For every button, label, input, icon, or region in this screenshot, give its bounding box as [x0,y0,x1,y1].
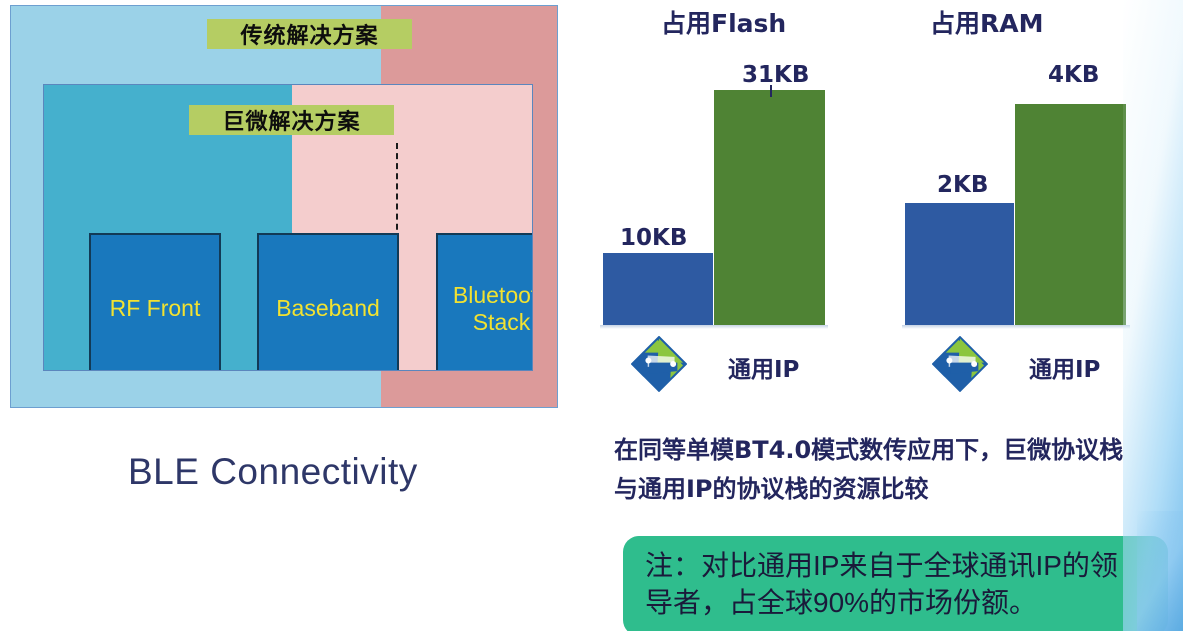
category-label-ram-generic-ip: 通用IP [1029,350,1100,384]
block-rf-front: RF Front [89,233,221,371]
chart-title-ram: 占用RAM [930,4,1043,40]
value-label-flash-generic-ip: 31KB [742,62,809,88]
legacy-solution-tag: 传统解决方案 [207,19,412,49]
value-label-flash-juwei: 10KB [620,225,687,251]
comparison-caption-line1: 在同等单模BT4.0模式数传应用下，巨微协议栈 [614,431,1174,470]
juwei-solution-box: 巨微解决方案 RF Front Baseband Bluetooth Stack… [43,84,533,371]
chart-baseline-flash [600,325,828,329]
note-line1: 注：对比通用IP来自于全球通讯IP的领 [645,548,1158,585]
value-label-ram-juwei: 2KB [937,172,988,198]
solution-diagram: 传统解决方案 巨微解决方案 RF Front Baseband Bluetoot… [10,5,558,408]
block-bluetooth-stack-line1: Bluetooth [453,282,533,308]
block-bluetooth-stack-line2: Stack [473,309,531,335]
category-label-flash-generic-ip: 通用IP [728,350,799,384]
block-bluetooth-stack-label: Bluetooth Stack [453,282,533,335]
bar-ram-generic-ip [1015,104,1126,325]
tick-mark-flash [770,85,772,97]
comparison-caption-line2: 与通用IP的协议栈的资源比较 [614,470,1174,509]
value-label-ram-generic-ip: 4KB [1048,62,1099,88]
bar-flash-juwei [603,253,713,325]
note-line2: 导者，占全球90%的市场份额。 [645,585,1158,622]
note-box: 注：对比通用IP来自于全球通讯IP的领 导者，占全球90%的市场份额。 [623,536,1168,631]
juwei-logo-icon [631,336,687,392]
juwei-logo-icon-ram [932,336,988,392]
chart-title-flash: 占用Flash [661,4,786,40]
block-baseband: Baseband [257,233,399,371]
block-baseband-label: Baseband [276,295,380,321]
juwei-solution-tag: 巨微解决方案 [189,105,394,135]
block-bluetooth-stack: Bluetooth Stack [436,233,533,371]
comparison-caption: 在同等单模BT4.0模式数传应用下，巨微协议栈 与通用IP的协议栈的资源比较 [614,431,1174,509]
slide-canvas: 传统解决方案 巨微解决方案 RF Front Baseband Bluetoot… [0,0,1183,631]
block-rf-front-label: RF Front [110,295,201,321]
chart-baseline-ram [902,325,1130,329]
bar-flash-generic-ip [714,90,825,325]
bar-ram-juwei [905,203,1014,325]
ble-connectivity-title: BLE Connectivity [128,451,418,493]
